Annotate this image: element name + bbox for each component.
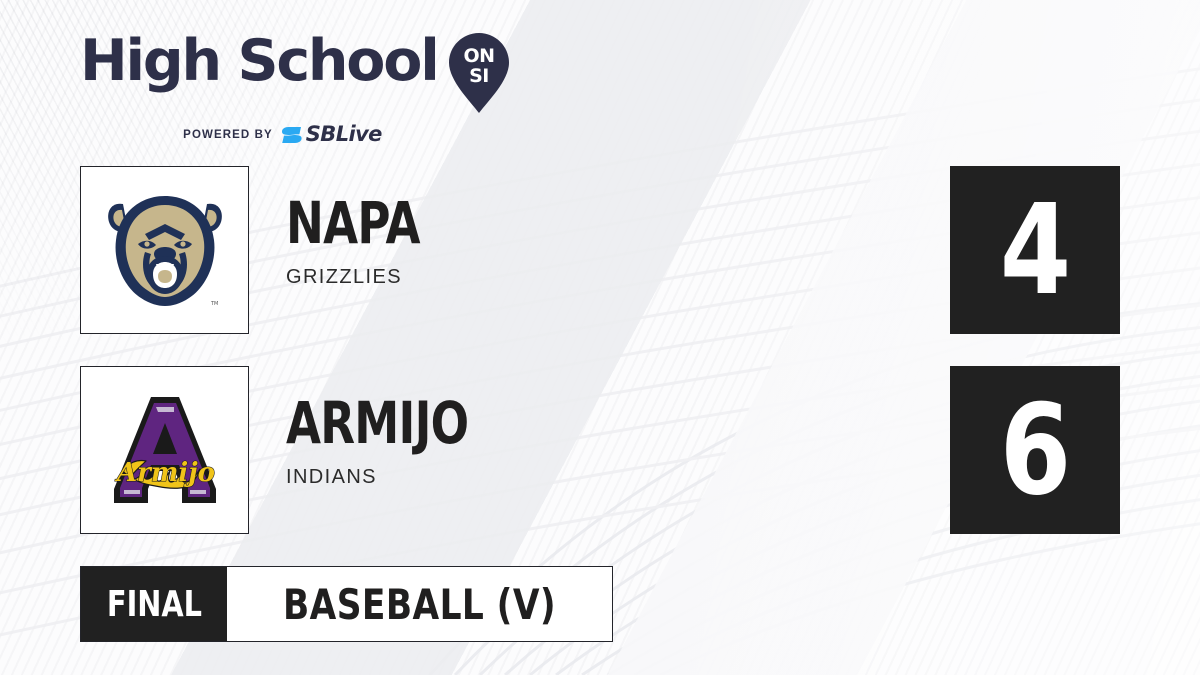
pin-text-si: SI (469, 65, 489, 87)
game-state-label: FINAL (106, 584, 201, 625)
powered-by-label: POWERED BY (183, 129, 273, 141)
brand-logo-row: High School ON SI (80, 34, 510, 119)
score-box-armijo: 6 (950, 366, 1120, 534)
armijo-script-text: Armijo (113, 458, 214, 488)
team-logo-box-armijo: Armijo (80, 366, 249, 534)
team-mascot-napa: GRIZZLIES (286, 266, 886, 289)
game-state-badge: FINAL (81, 567, 227, 641)
powered-by-row: POWERED BY SBLive (80, 124, 485, 145)
scoreboard-graphic: High School ON SI POWERED BY SBLive (0, 0, 1200, 675)
status-banner: FINAL BASEBALL (V) (80, 566, 613, 642)
sport-label: BASEBALL (V) (283, 580, 556, 629)
team-mascot-armijo: INDIANS (286, 466, 886, 489)
armijo-indians-a-logo: Armijo (104, 391, 226, 509)
pin-text-on: ON (463, 45, 494, 67)
sblive-wordmark: SBLive (306, 124, 382, 145)
svg-text:TM: TM (210, 301, 218, 307)
team-name-armijo: ARMIJO (286, 394, 754, 452)
brand-wordmark: High School (80, 34, 438, 90)
sport-label-box: BASEBALL (V) (227, 567, 612, 641)
on-si-pin-icon: ON SI (448, 32, 510, 119)
sblive-s-icon (281, 125, 303, 145)
team-name-napa: NAPA (286, 194, 754, 252)
sblive-logo: SBLive (281, 124, 382, 145)
score-box-napa: 4 (950, 166, 1120, 334)
score-value-armijo: 6 (999, 388, 1070, 513)
team-info-napa: NAPA GRIZZLIES (286, 194, 886, 289)
team-row-armijo: Armijo ARMIJO INDIANS 6 (80, 366, 1120, 534)
brand-header: High School ON SI POWERED BY SBLive (80, 34, 510, 134)
napa-grizzlies-bear-logo: TM (101, 188, 229, 312)
team-row-napa: TM NAPA GRIZZLIES 4 (80, 166, 1120, 334)
team-info-armijo: ARMIJO INDIANS (286, 394, 886, 489)
team-logo-box-napa: TM (80, 166, 249, 334)
score-value-napa: 4 (999, 188, 1070, 313)
